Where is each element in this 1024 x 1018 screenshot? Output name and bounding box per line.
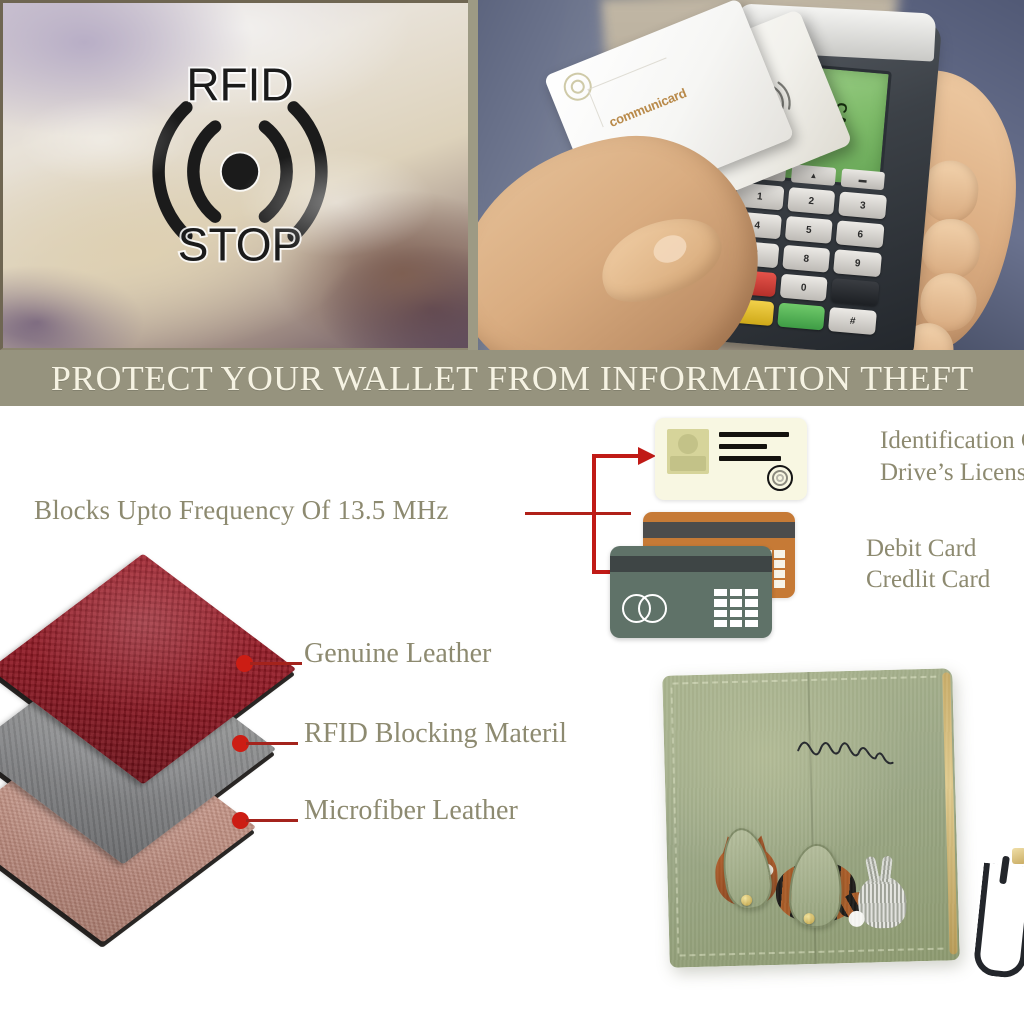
wallet-body (662, 668, 960, 967)
label-rfid-blocking-material: RFID Blocking Materil (304, 718, 567, 750)
id-text-line (719, 456, 781, 461)
zipper-pull (1012, 848, 1024, 864)
wallet-zipper (942, 672, 957, 954)
label-credit-card: Credlit Card (866, 566, 990, 595)
id-text-line (719, 432, 789, 437)
pos-terminal-photo: CARD ACCESS DENIED ▼ ▲ ▬ 1 2 3 4 5 6 (478, 0, 1024, 350)
id-photo-head (678, 434, 698, 454)
arrow-to-id-card (638, 447, 656, 465)
id-photo-body (670, 456, 706, 471)
card-slot-flap (788, 843, 844, 929)
callout-leader-line (250, 662, 302, 665)
connector-bracket-top (592, 454, 642, 458)
connector-bracket-vertical (592, 454, 596, 574)
label-drivers-license: Drive’s License (880, 459, 1024, 488)
rfid-stop-logo: RFID RFID STOP STOP (115, 48, 365, 278)
rabbit-ear (880, 856, 893, 883)
rabbit-ear (865, 856, 880, 883)
rabbit-tail (848, 911, 864, 927)
id-hologram-icon (767, 465, 793, 491)
wallet-stitching (680, 948, 944, 958)
keypad-key: 0 (779, 274, 828, 302)
rfid-logo-top-text: RFID (186, 59, 293, 111)
protected-cards-illustration (655, 418, 885, 638)
wallet-script-embroidery (794, 727, 915, 770)
keypad-key: 3 (838, 191, 887, 219)
keypad-key: 9 (833, 249, 882, 277)
callout-leader-line (246, 742, 298, 745)
keypad-key: 2 (787, 187, 836, 215)
headline-banner: PROTECT YOUR WALLET FROM INFORMATION THE… (0, 350, 1024, 406)
frequency-label: Blocks Upto Frequency Of 13.5 MHz (34, 495, 449, 526)
label-identification-card: Identification Card (880, 427, 1024, 456)
payment-network-icon (622, 594, 674, 624)
wallet-stitching (671, 688, 681, 954)
nav-key-up: ▲ (791, 164, 836, 186)
magnetic-stripe (643, 522, 795, 538)
wallet-product-photo (648, 660, 1024, 1018)
callout-leader-line (246, 819, 298, 822)
keypad-key: 8 (782, 245, 831, 273)
finger (919, 216, 983, 282)
material-layers-illustration (10, 602, 290, 902)
photo-divider (468, 0, 478, 350)
debit-card-graphic (610, 546, 772, 638)
id-text-line (719, 444, 767, 449)
label-debit-card: Debit Card (866, 535, 976, 564)
hero-photo-strip: RFID RFID STOP STOP CARD (0, 0, 1024, 350)
keypad-key: # (828, 307, 877, 335)
keypad-key: 6 (836, 220, 885, 248)
nav-key-enter: ▬ (840, 169, 885, 191)
identification-card-graphic (655, 418, 807, 500)
rabbit-embroidery (858, 876, 907, 929)
card-number-grid (714, 589, 758, 627)
headline-text: PROTECT YOUR WALLET FROM INFORMATION THE… (51, 361, 974, 396)
rfid-logo-photo: RFID RFID STOP STOP (0, 0, 468, 350)
magnetic-stripe (610, 556, 772, 572)
wallet-stitching (672, 676, 936, 686)
wrist-strap (972, 863, 1024, 980)
label-genuine-leather: Genuine Leather (304, 638, 491, 670)
keypad-enter-key (777, 303, 826, 331)
keypad-menu-key (831, 278, 880, 306)
infographic-canvas: RFID RFID STOP STOP CARD (0, 0, 1024, 1018)
frequency-connector-line (525, 512, 631, 515)
id-photo-placeholder (667, 429, 709, 474)
label-microfiber-leather: Microfiber Leather (304, 795, 518, 827)
rfid-logo-bottom-text: STOP (178, 219, 302, 271)
keypad-key: 5 (784, 216, 833, 244)
